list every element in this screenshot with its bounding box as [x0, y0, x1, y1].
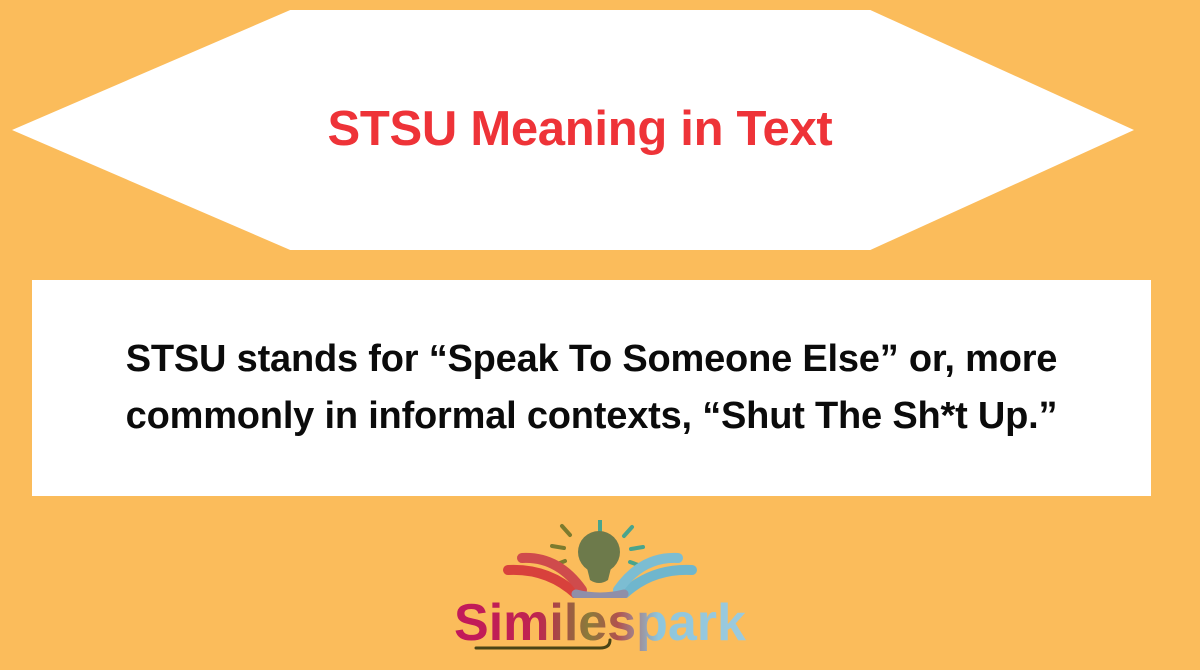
lightbulb-icon [578, 531, 620, 583]
definition-card: STSU stands for “Speak To Someone Else” … [32, 280, 1151, 496]
hexagon-title-banner: STSU Meaning in Text [12, 10, 1134, 250]
page-title: STSU Meaning in Text [328, 103, 833, 157]
brand-name-text: Similespark [454, 594, 746, 652]
logo-mark-icon [500, 520, 700, 598]
definition-text: STSU stands for “Speak To Someone Else” … [87, 331, 1097, 445]
sun-rays-icon [552, 526, 570, 565]
logo-wordmark: Similespark [450, 594, 750, 656]
brand-logo: Similespark [0, 520, 1200, 670]
infographic-canvas: STSU Meaning in Text STSU stands for “Sp… [0, 0, 1200, 670]
